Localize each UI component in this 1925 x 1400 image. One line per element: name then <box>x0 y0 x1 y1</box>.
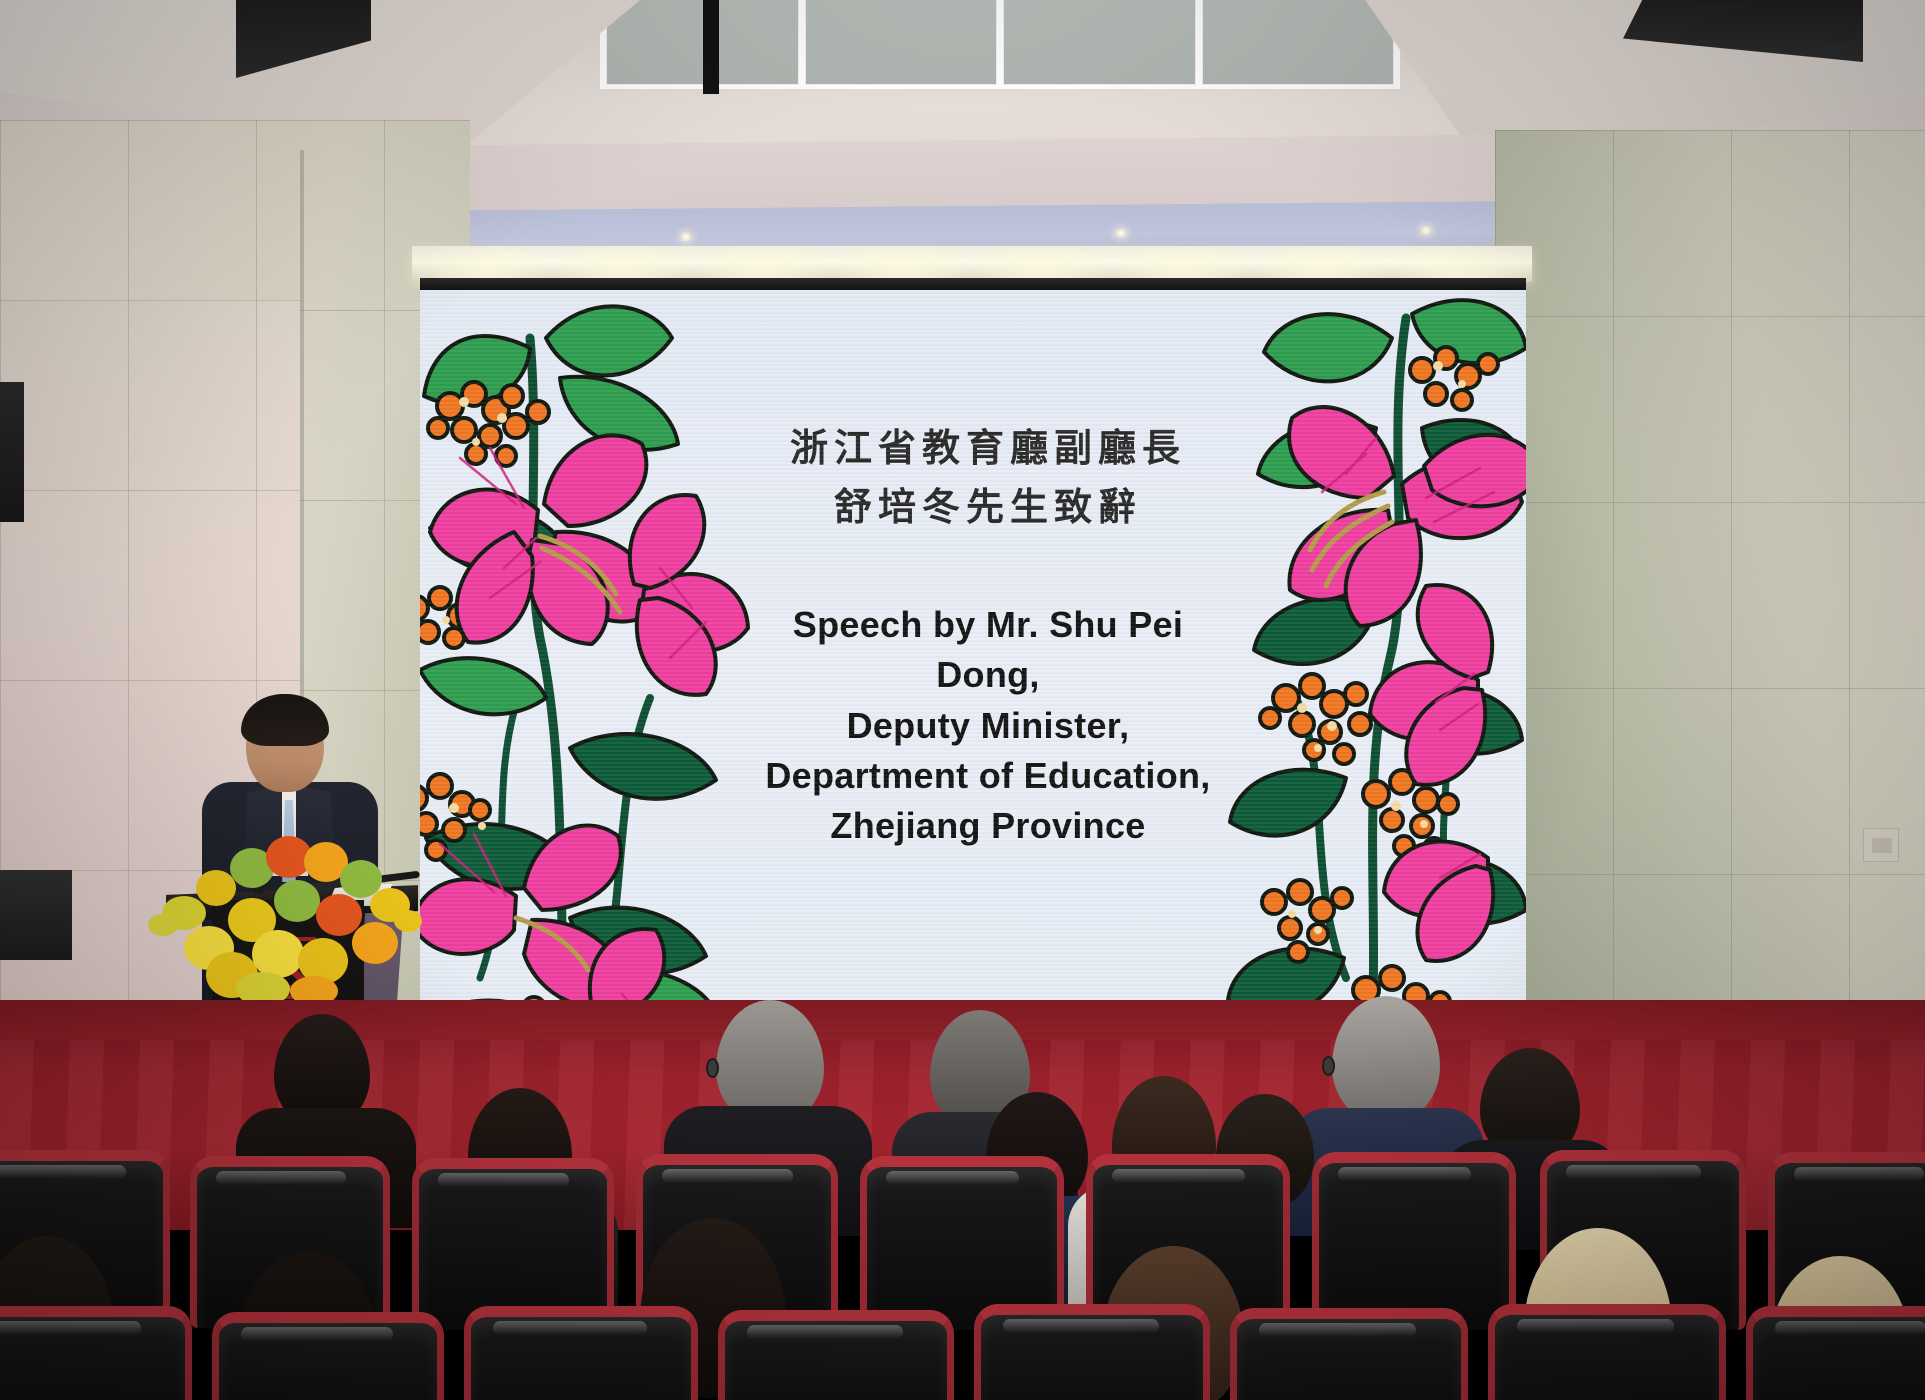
slide-english-line-3: Department of Education, <box>750 751 1226 801</box>
downlight-icon <box>1115 229 1127 238</box>
screen-valance-lightbar <box>412 246 1532 282</box>
floral-artwork-left <box>420 290 750 1090</box>
downlight-icon <box>1420 226 1432 235</box>
valance-light <box>972 246 1112 282</box>
valance-light <box>692 246 832 282</box>
slide-text-block: 浙江省教育廳副廳長 舒培冬先生致辭 Speech by Mr. Shu Pei … <box>750 420 1226 852</box>
translation-earpiece-icon <box>706 1058 719 1078</box>
speaker-hair <box>241 694 329 746</box>
audience-chair[interactable] <box>464 1306 698 1400</box>
wall-tile-grid <box>1495 130 1925 1060</box>
slide-english-line-1: Speech by Mr. Shu Pei Dong, <box>750 600 1226 701</box>
presentation-scene-photo: 浙江省教育廳副廳長 舒培冬先生致辭 Speech by Mr. Shu Pei … <box>0 0 1925 1400</box>
ceiling-panel <box>1003 0 1196 85</box>
ceiling-panel <box>1202 0 1395 85</box>
wall-speaker-lower-icon <box>0 870 72 960</box>
slide-english-line-2: Deputy Minister, <box>750 701 1226 751</box>
valance-light <box>832 246 972 282</box>
audience-seating <box>0 1030 1925 1400</box>
presentation-screen: 浙江省教育廳副廳長 舒培冬先生致辭 Speech by Mr. Shu Pei … <box>420 290 1526 1090</box>
audience-chair[interactable] <box>718 1310 954 1400</box>
audience-chair[interactable] <box>1312 1152 1516 1330</box>
valance-light <box>1252 246 1392 282</box>
valance-light <box>1392 246 1532 282</box>
audience-chair[interactable] <box>212 1312 444 1400</box>
audience-chair[interactable] <box>412 1158 614 1330</box>
wall-speaker-icon <box>0 382 24 522</box>
ceiling-acoustic-panels <box>600 0 1400 89</box>
audience-chair[interactable] <box>1488 1304 1726 1400</box>
valance-light <box>1112 246 1252 282</box>
slide-english-line-4: Zhejiang Province <box>750 801 1226 851</box>
audience-chair[interactable] <box>1746 1306 1925 1400</box>
valance-light <box>552 246 692 282</box>
ceiling-panel <box>805 0 998 85</box>
podium-flower-arrangement <box>148 826 418 1006</box>
slide-chinese-line-1: 浙江省教育廳副廳長 <box>750 420 1226 479</box>
floral-artwork-right <box>1226 290 1526 1090</box>
audience-chair[interactable] <box>0 1306 192 1400</box>
translation-earpiece-icon <box>1322 1056 1335 1076</box>
audience-chair[interactable] <box>1230 1308 1468 1400</box>
slide-chinese-line-2: 舒培冬先生致辭 <box>750 479 1226 538</box>
ceiling-recess-slot <box>703 0 719 94</box>
valance-light <box>412 246 552 282</box>
downlight-icon <box>680 232 692 241</box>
wall-right <box>1495 130 1925 1060</box>
wall-outlet-icon <box>1863 828 1899 862</box>
audience-chair[interactable] <box>974 1304 1210 1400</box>
